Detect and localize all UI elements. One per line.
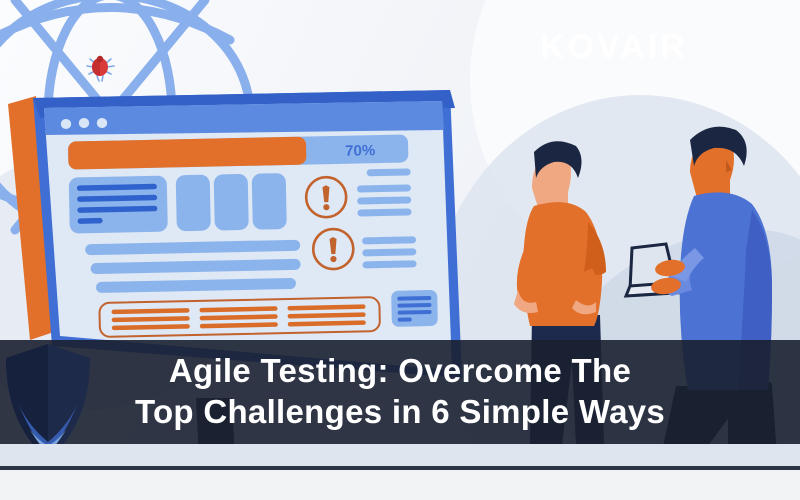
card-blank-1	[176, 175, 211, 232]
progress-fill	[68, 137, 307, 170]
page-title-line2: Top Challenges in 6 Simple Ways	[0, 391, 800, 432]
page-title: Agile Testing: Overcome The Top Challeng…	[0, 350, 800, 432]
alert-detail-lines-2	[362, 236, 417, 268]
side-card	[391, 290, 438, 327]
card-blank-2	[214, 174, 249, 231]
kovair-logo: KOVAIR	[540, 28, 688, 67]
card-blank-3	[252, 173, 287, 230]
alert-detail-lines-1	[357, 184, 412, 216]
card-text-block	[69, 176, 168, 234]
page-title-line1: Agile Testing: Overcome The	[0, 350, 800, 391]
window-dots	[61, 118, 108, 129]
floor-base	[0, 470, 800, 500]
banner-image: 70%	[0, 0, 800, 500]
body-lines	[85, 240, 301, 293]
progress-label: 70%	[345, 142, 375, 160]
